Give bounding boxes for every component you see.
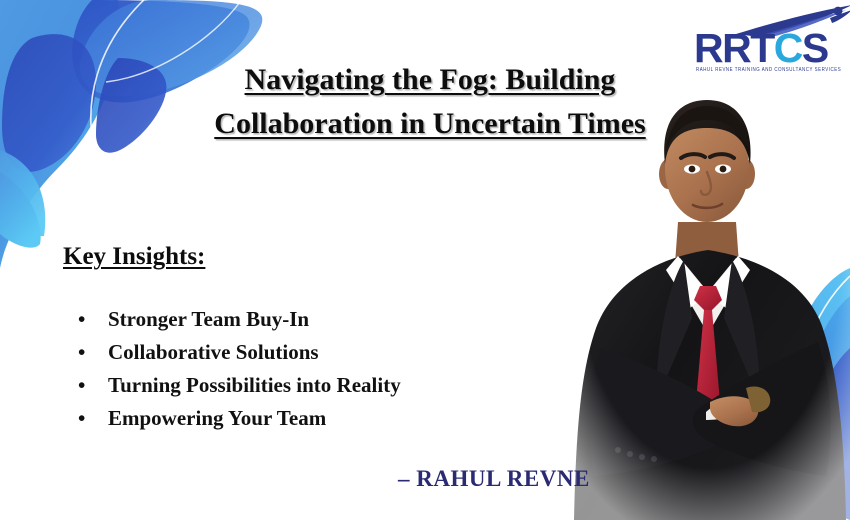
key-insights-heading: Key Insights:: [63, 243, 205, 271]
list-item: Turning Possibilities into Reality: [72, 369, 401, 402]
key-insights-list: Stronger Team Buy-In Collaborative Solut…: [52, 303, 401, 435]
logo-wordmark-s: S: [802, 25, 828, 71]
list-item: Empowering Your Team: [72, 402, 401, 435]
slide-canvas: RRTCS RAHUL REVNE TRAINING AND CONSULTAN…: [0, 0, 850, 520]
logo-wordmark-c: C: [774, 25, 802, 71]
title-line-1: Navigating the Fog: Building: [120, 58, 740, 102]
page-title: Navigating the Fog: Building Collaborati…: [120, 58, 740, 146]
list-item: Collaborative Solutions: [72, 336, 401, 369]
speaker-attribution: – RAHUL REVNE: [398, 466, 590, 492]
list-item: Stronger Team Buy-In: [72, 303, 401, 336]
title-line-2: Collaboration in Uncertain Times: [120, 102, 740, 146]
